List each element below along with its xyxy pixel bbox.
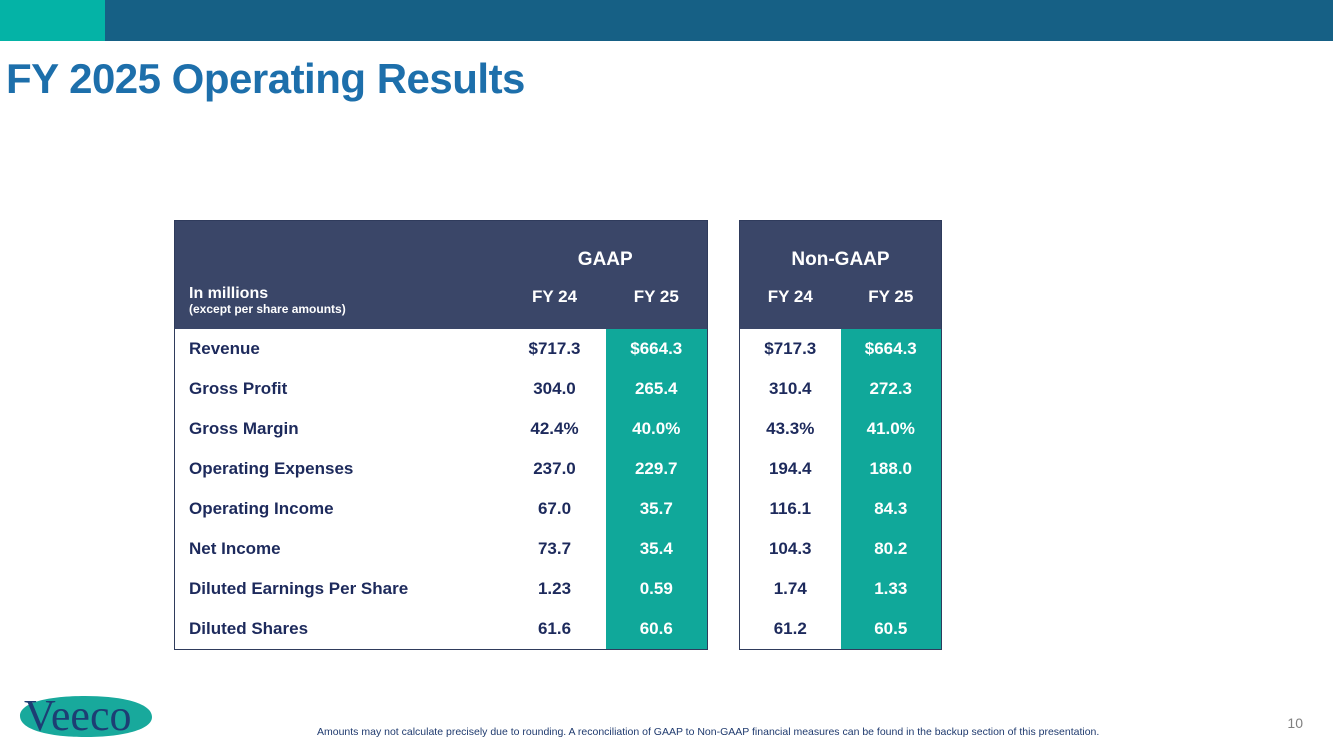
non-gaap-fy25-header: FY 25 xyxy=(841,273,942,329)
gaap-fy25-value: 60.6 xyxy=(606,609,708,650)
non-gaap-fy24-value: 1.74 xyxy=(740,569,841,609)
table-row: Revenue $717.3 $664.3 xyxy=(175,329,708,369)
table-row: 194.4 188.0 xyxy=(740,449,942,489)
gaap-fy24-value: 42.4% xyxy=(504,409,606,449)
units-caption-sub: (except per share amounts) xyxy=(189,303,504,316)
non-gaap-fy25-value: 188.0 xyxy=(841,449,942,489)
non-gaap-fy24-value: 310.4 xyxy=(740,369,841,409)
non-gaap-fy25-value: 272.3 xyxy=(841,369,942,409)
table-row: 1.74 1.33 xyxy=(740,569,942,609)
gaap-fy25-header: FY 25 xyxy=(606,273,708,329)
gaap-header-spacer xyxy=(175,221,504,274)
table-row: Net Income 73.7 35.4 xyxy=(175,529,708,569)
table-row: 310.4 272.3 xyxy=(740,369,942,409)
non-gaap-fy25-value: 1.33 xyxy=(841,569,942,609)
table-row: $717.3 $664.3 xyxy=(740,329,942,369)
footnote-text: Amounts may not calculate precisely due … xyxy=(317,726,1099,738)
non-gaap-fy25-value: 60.5 xyxy=(841,609,942,650)
non-gaap-column-header-row: FY 24 FY 25 xyxy=(740,273,942,329)
table-row: Operating Income 67.0 35.7 xyxy=(175,489,708,529)
veeco-logo: Veeco xyxy=(10,690,160,742)
table-row: 104.3 80.2 xyxy=(740,529,942,569)
units-caption: In millions (except per share amounts) xyxy=(175,273,504,329)
non-gaap-group-header-row: Non-GAAP xyxy=(740,221,942,274)
row-label: Gross Profit xyxy=(175,369,504,409)
gaap-fy24-value: 304.0 xyxy=(504,369,606,409)
table-row: Operating Expenses 237.0 229.7 xyxy=(175,449,708,489)
gaap-group-header-row: GAAP xyxy=(175,221,708,274)
gaap-fy25-value: 40.0% xyxy=(606,409,708,449)
table-row: Gross Margin 42.4% 40.0% xyxy=(175,409,708,449)
page-number: 10 xyxy=(1287,715,1303,731)
gaap-fy24-value: 1.23 xyxy=(504,569,606,609)
non-gaap-fy25-value: 84.3 xyxy=(841,489,942,529)
page-title: FY 2025 Operating Results xyxy=(6,55,525,103)
non-gaap-fy24-value: 104.3 xyxy=(740,529,841,569)
gaap-fy25-value: $664.3 xyxy=(606,329,708,369)
gaap-fy24-header: FY 24 xyxy=(504,273,606,329)
gaap-fy25-value: 265.4 xyxy=(606,369,708,409)
table-row: 116.1 84.3 xyxy=(740,489,942,529)
gaap-fy25-value: 0.59 xyxy=(606,569,708,609)
gaap-group-label: GAAP xyxy=(504,221,708,274)
top-header-bar xyxy=(0,0,1333,41)
units-caption-main: In millions xyxy=(189,285,504,303)
table-row: 43.3% 41.0% xyxy=(740,409,942,449)
table-row: Gross Profit 304.0 265.4 xyxy=(175,369,708,409)
non-gaap-fy24-value: 43.3% xyxy=(740,409,841,449)
row-label: Operating Expenses xyxy=(175,449,504,489)
non-gaap-fy24-value: $717.3 xyxy=(740,329,841,369)
non-gaap-results-table: Non-GAAP FY 24 FY 25 $717.3 $664.3 310.4… xyxy=(739,220,942,650)
row-label: Gross Margin xyxy=(175,409,504,449)
gaap-results-table: GAAP In millions (except per share amoun… xyxy=(174,220,708,650)
gaap-fy24-value: 61.6 xyxy=(504,609,606,650)
non-gaap-fy24-value: 194.4 xyxy=(740,449,841,489)
top-header-accent-block xyxy=(0,0,105,41)
gaap-fy24-value: $717.3 xyxy=(504,329,606,369)
non-gaap-fy25-value: $664.3 xyxy=(841,329,942,369)
non-gaap-group-label: Non-GAAP xyxy=(740,221,942,274)
gaap-fy25-value: 35.4 xyxy=(606,529,708,569)
gaap-fy24-value: 237.0 xyxy=(504,449,606,489)
veeco-logo-wordmark: Veeco xyxy=(24,691,132,740)
non-gaap-fy24-value: 116.1 xyxy=(740,489,841,529)
row-label: Revenue xyxy=(175,329,504,369)
table-row: Diluted Earnings Per Share 1.23 0.59 xyxy=(175,569,708,609)
gaap-fy24-value: 67.0 xyxy=(504,489,606,529)
gaap-fy24-value: 73.7 xyxy=(504,529,606,569)
non-gaap-fy25-value: 41.0% xyxy=(841,409,942,449)
row-label: Net Income xyxy=(175,529,504,569)
row-label: Diluted Shares xyxy=(175,609,504,650)
gaap-fy25-value: 229.7 xyxy=(606,449,708,489)
non-gaap-fy24-value: 61.2 xyxy=(740,609,841,650)
gaap-column-header-row: In millions (except per share amounts) F… xyxy=(175,273,708,329)
table-row: Diluted Shares 61.6 60.6 xyxy=(175,609,708,650)
non-gaap-fy24-header: FY 24 xyxy=(740,273,841,329)
table-row: 61.2 60.5 xyxy=(740,609,942,650)
row-label: Diluted Earnings Per Share xyxy=(175,569,504,609)
row-label: Operating Income xyxy=(175,489,504,529)
gaap-fy25-value: 35.7 xyxy=(606,489,708,529)
non-gaap-fy25-value: 80.2 xyxy=(841,529,942,569)
